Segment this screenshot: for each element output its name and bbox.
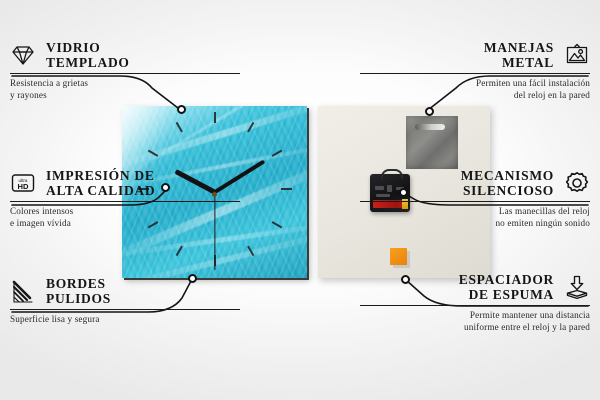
feature-title: VIDRIO TEMPLADO [46, 40, 130, 70]
feature-title: ESPACIADOR DE ESPUMA [459, 272, 554, 302]
diamond-icon [10, 42, 36, 68]
feature-divider [10, 201, 240, 202]
foam-spacer [390, 248, 407, 265]
feature-description: Permiten una fácil instalación del reloj… [360, 78, 590, 101]
feature-header: MANEJAS METAL [360, 40, 590, 70]
feature-title: IMPRESIÓN DE ALTA CALIDAD [46, 168, 155, 198]
feature-description: Superficie lisa y segura [10, 314, 240, 326]
feature-description: Resistencia a grietas y rayones [10, 78, 240, 101]
connector-dot-vidrio [177, 105, 186, 114]
feature-manejas-metal: MANEJAS METAL Permiten una fácil instala… [360, 40, 590, 101]
feature-divider [10, 309, 240, 310]
feature-vidrio-templado: VIDRIO TEMPLADO Resistencia a grietas y … [10, 40, 240, 101]
svg-text:HD: HD [18, 182, 29, 191]
feature-header: BORDES PULIDOS [10, 276, 240, 306]
feature-title: MANEJAS METAL [484, 40, 554, 70]
feature-header: ESPACIADOR DE ESPUMA [360, 272, 590, 302]
feature-espaciador-espuma: ESPACIADOR DE ESPUMA Permite mantener un… [360, 272, 590, 333]
feature-header: VIDRIO TEMPLADO [10, 40, 240, 70]
feature-divider [10, 73, 240, 74]
foam-spacer-arrow-icon [564, 274, 590, 300]
polished-edges-icon [10, 278, 36, 304]
feature-title: MECANISMO SILENCIOSO [461, 168, 554, 198]
hanger-slot [415, 124, 445, 130]
connector-dot-manejas [425, 107, 434, 116]
feature-title: BORDES PULIDOS [46, 276, 111, 306]
feature-description: Las manecillas del reloj no emiten ningú… [360, 206, 590, 229]
hanger-plate [406, 116, 458, 169]
feature-header: MECANISMO SILENCIOSO [360, 168, 590, 198]
ultra-hd-icon: ultra HD [10, 170, 36, 196]
wall-frame-hanger-icon [564, 42, 590, 68]
feature-divider [360, 73, 590, 74]
gear-icon [564, 170, 590, 196]
feature-mecanismo-silencioso: MECANISMO SILENCIOSO Las manecillas del … [360, 168, 590, 229]
feature-impresion-alta-calidad: ultra HD IMPRESIÓN DE ALTA CALIDAD Color… [10, 168, 240, 229]
feature-description: Colores intensos e imagen vívida [10, 206, 240, 229]
feature-header: ultra HD IMPRESIÓN DE ALTA CALIDAD [10, 168, 240, 198]
feature-divider [360, 305, 590, 306]
clock-tick [271, 221, 282, 228]
feature-description: Permite mantener una distancia uniforme … [360, 310, 590, 333]
feature-bordes-pulidos: BORDES PULIDOS Superficie lisa y segura [10, 276, 240, 326]
clock-tick [281, 188, 292, 190]
infographic-canvas: VIDRIO TEMPLADO Resistencia a grietas y … [0, 0, 600, 400]
clock-tick [175, 122, 182, 133]
clock-tick [214, 112, 216, 123]
feature-divider [360, 201, 590, 202]
